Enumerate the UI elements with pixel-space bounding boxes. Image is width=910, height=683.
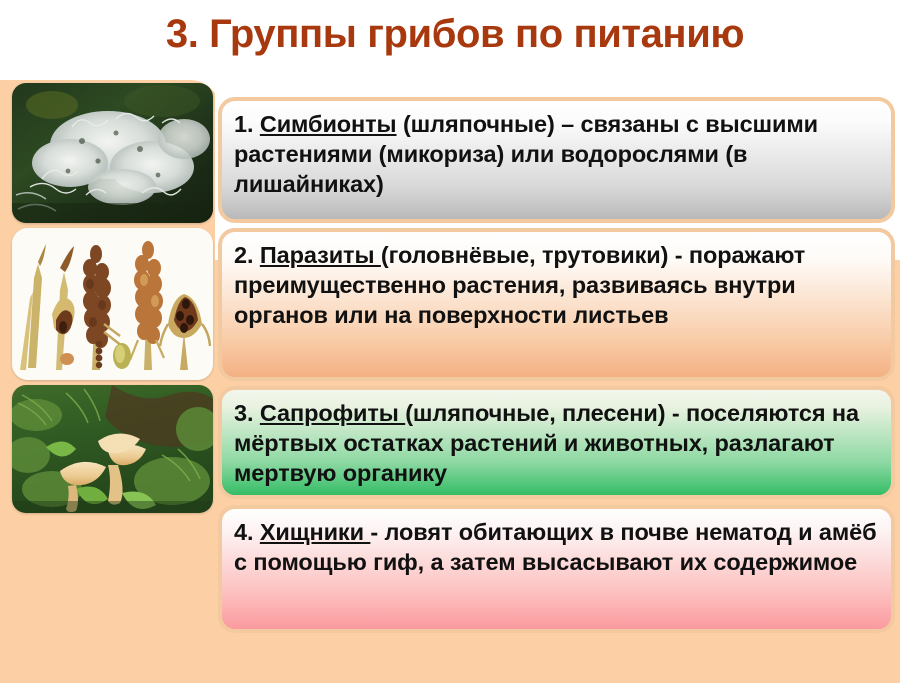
slide-root: 3. Группы грибов по питанию <box>0 0 910 683</box>
block-2-number: 2. <box>234 242 253 268</box>
block-3-number: 3. <box>234 400 253 426</box>
block-1-term: Симбионты <box>260 111 397 137</box>
mushroom-illustration <box>12 385 213 513</box>
text-block-predators: 4. Хищники - ловят обитающих в почве нем… <box>218 505 895 633</box>
block-2-term: Паразиты <box>260 242 381 268</box>
smut-illustration <box>12 228 213 380</box>
lichen-illustration <box>12 83 213 223</box>
mushrooms-photo <box>12 385 213 513</box>
lichen-photo <box>12 83 213 223</box>
wheat-smut-drawing <box>12 228 213 380</box>
text-block-symbionts: 1. Симбионты (шляпочные) – связаны с выс… <box>218 97 895 223</box>
block-3-term: Сапрофиты <box>260 400 405 426</box>
text-block-parasites: 2. Паразиты (головнёвые, трутовики) - по… <box>218 228 895 381</box>
block-1-number: 1. <box>234 111 253 137</box>
block-4-term: Хищники <box>260 519 371 545</box>
page-title: 3. Группы грибов по питанию <box>0 12 910 57</box>
text-block-saprophytes: 3. Сапрофиты (шляпочные, плесени) - посе… <box>218 386 895 499</box>
block-4-number: 4. <box>234 519 253 545</box>
